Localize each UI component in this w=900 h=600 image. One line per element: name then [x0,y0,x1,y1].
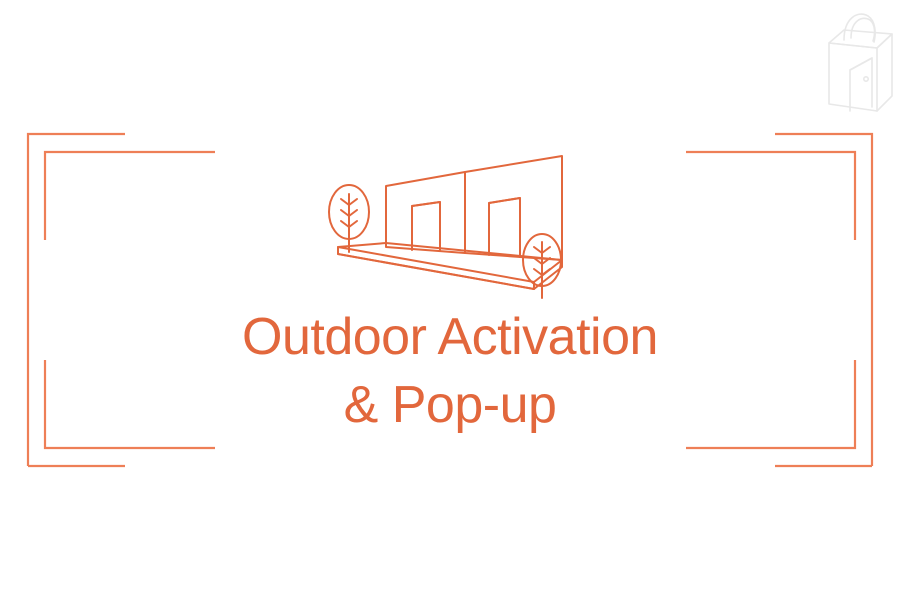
shopping-bag-icon [829,14,892,111]
tree-left-icon [329,185,369,252]
outdoor-storefront-illustration [320,150,580,302]
title-line-2: & Pop-up [0,371,900,439]
bracket-inner-top-right [686,152,855,240]
page-title: Outdoor Activation & Pop-up [0,303,900,439]
deck-platform [338,243,562,289]
shopping-bag-watermark [820,8,900,116]
doorway-left [412,202,440,251]
building-wall-left [386,172,465,253]
slide-canvas: Outdoor Activation & Pop-up [0,0,900,600]
title-line-1: Outdoor Activation [0,303,900,371]
bracket-inner-top-left [45,152,215,240]
building-wall-right [465,156,562,260]
doorway-right [489,198,520,257]
